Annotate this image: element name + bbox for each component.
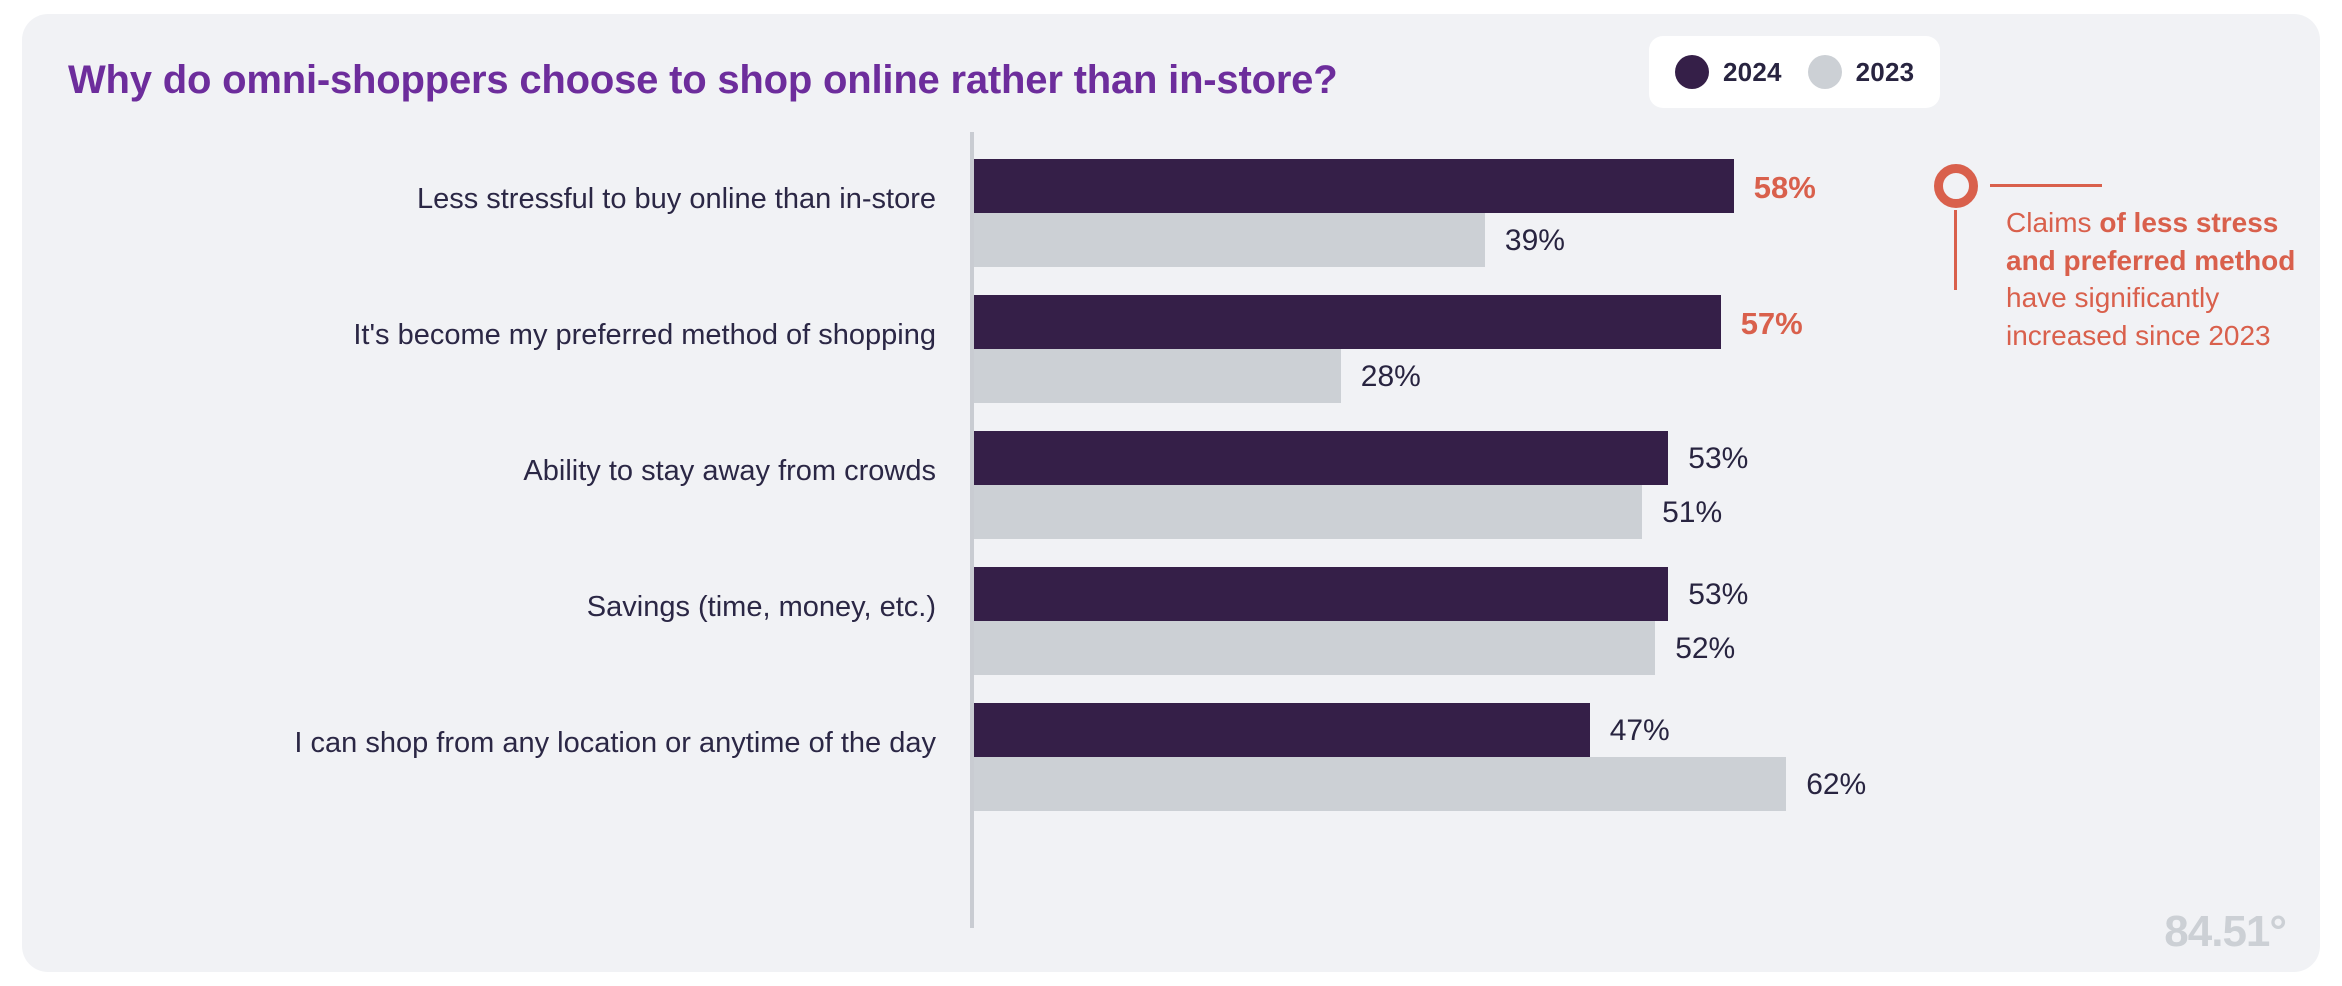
category-label: It's become my preferred method of shopp… bbox=[22, 268, 936, 404]
bar-2024[interactable] bbox=[974, 159, 1734, 213]
legend-swatch-2024-icon bbox=[1675, 55, 1709, 89]
callout-text-lead: Claims bbox=[2006, 207, 2099, 238]
bar-2024[interactable] bbox=[974, 703, 1590, 757]
bar-value-2024: 58% bbox=[1754, 172, 1816, 203]
chart-row: I can shop from any location or anytime … bbox=[22, 676, 2320, 812]
chart-legend: 2024 2023 bbox=[1649, 36, 1940, 108]
chart-card: Why do omni-shoppers choose to shop onli… bbox=[22, 14, 2320, 972]
bar-value-2023: 28% bbox=[1361, 362, 1421, 392]
bar-2023[interactable] bbox=[974, 757, 1786, 811]
callout-vertical-line bbox=[1954, 210, 1957, 290]
bar-value-2023: 39% bbox=[1505, 226, 1565, 256]
bar-2023[interactable] bbox=[974, 213, 1485, 267]
bar-value-2024: 47% bbox=[1610, 716, 1670, 746]
callout-text-tail: have significantly increased since 2023 bbox=[2006, 282, 2271, 351]
bar-2023[interactable] bbox=[974, 621, 1655, 675]
category-label: Ability to stay away from crowds bbox=[22, 404, 936, 540]
chart-canvas: Why do omni-shoppers choose to shop onli… bbox=[0, 0, 2342, 986]
callout-annotation: Claims of less stress and preferred meth… bbox=[1934, 164, 2306, 464]
bar-2023[interactable] bbox=[974, 485, 1642, 539]
bar-group: 53%52% bbox=[974, 540, 2320, 676]
callout-horizontal-line bbox=[1990, 184, 2102, 187]
bar-group: 47%62% bbox=[974, 676, 2320, 812]
category-label: Less stressful to buy online than in-sto… bbox=[22, 132, 936, 268]
legend-label-2023: 2023 bbox=[1856, 57, 1915, 88]
legend-item-2023[interactable]: 2023 bbox=[1808, 55, 1915, 89]
bar-value-2024: 53% bbox=[1688, 580, 1748, 610]
bar-2024[interactable] bbox=[974, 431, 1668, 485]
bar-value-2023: 51% bbox=[1662, 498, 1722, 528]
bar-2024[interactable] bbox=[974, 567, 1668, 621]
category-label: Savings (time, money, etc.) bbox=[22, 540, 936, 676]
callout-text: Claims of less stress and preferred meth… bbox=[2006, 204, 2306, 354]
bar-value-2023: 62% bbox=[1806, 770, 1866, 800]
legend-swatch-2023-icon bbox=[1808, 55, 1842, 89]
bar-2023[interactable] bbox=[974, 349, 1341, 403]
legend-item-2024[interactable]: 2024 bbox=[1675, 55, 1782, 89]
bar-value-2024: 57% bbox=[1741, 308, 1803, 339]
callout-circle-icon bbox=[1934, 164, 1978, 208]
category-label: I can shop from any location or anytime … bbox=[22, 676, 936, 812]
bar-value-2024: 53% bbox=[1688, 444, 1748, 474]
bar-2024[interactable] bbox=[974, 295, 1721, 349]
page-title: Why do omni-shoppers choose to shop onli… bbox=[68, 58, 1628, 102]
bar-value-2023: 52% bbox=[1675, 634, 1735, 664]
legend-label-2024: 2024 bbox=[1723, 57, 1782, 88]
chart-row: Savings (time, money, etc.)53%52% bbox=[22, 540, 2320, 676]
brand-watermark: 84.51° bbox=[2164, 910, 2286, 954]
